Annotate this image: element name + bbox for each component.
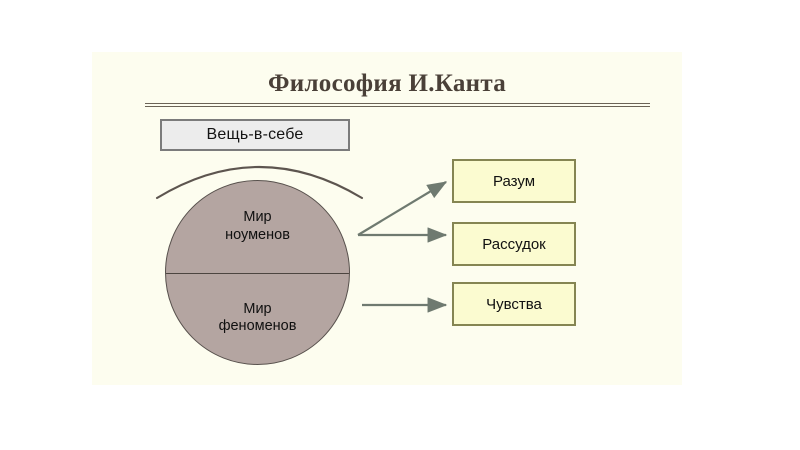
noumenal-world-label: Мир ноуменов [225, 209, 290, 244]
thing-in-itself-box: Вещь-в-себе [160, 119, 350, 151]
title-divider-rule [145, 103, 650, 107]
worlds-circle: Мир ноуменов Мир феноменов [165, 180, 350, 365]
thing-in-itself-label: Вещь-в-себе [206, 126, 303, 144]
noumenal-world-half: Мир ноуменов [166, 181, 349, 273]
faculty-label-understanding: Рассудок [482, 236, 546, 253]
arrow-noumena-to-reason [358, 182, 446, 235]
slide-canvas: Философия И.Канта Вещь-в-себе Мир ноумен… [0, 0, 800, 450]
faculty-box-sensibility: Чувства [452, 282, 576, 326]
faculty-box-understanding: Рассудок [452, 222, 576, 266]
phenomenal-world-label: Мир феноменов [219, 301, 297, 336]
page-title: Философия И.Канта [92, 70, 682, 98]
phenomenal-world-half: Мир феноменов [166, 273, 349, 365]
slide-sheet: Философия И.Канта Вещь-в-себе Мир ноумен… [92, 52, 682, 385]
faculty-box-reason: Разум [452, 159, 576, 203]
faculty-label-reason: Разум [493, 173, 535, 190]
faculty-label-sensibility: Чувства [486, 296, 542, 313]
circle-divider-line [166, 273, 349, 274]
